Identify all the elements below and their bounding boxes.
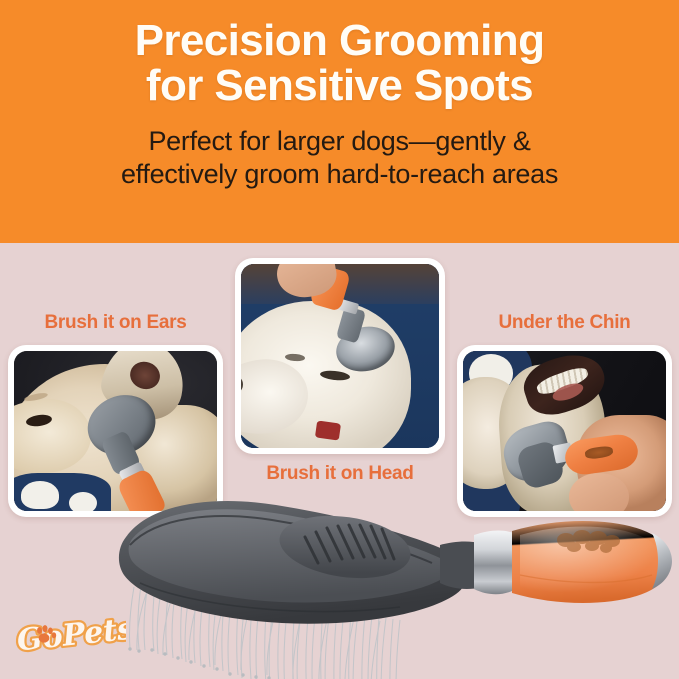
brush-body-highlight [129, 509, 449, 602]
brush-ferrule [474, 531, 518, 595]
caption-head: Brush it on Head [235, 463, 445, 485]
brand-logo: GoPets GoPets [14, 607, 126, 659]
grip-ridges [305, 525, 394, 563]
brush-body [119, 501, 467, 624]
handle-seam [520, 575, 652, 583]
logo-text-fill: GoPets [15, 611, 126, 658]
blanket-shape [14, 473, 111, 511]
gopets-logo: GoPets GoPets [14, 607, 126, 659]
headline-line-1: Precision Grooming [135, 16, 545, 65]
brush-pins [130, 584, 401, 679]
subheadline: Perfect for larger dogs—gently & effecti… [15, 125, 665, 191]
brush-pin-tips [128, 647, 270, 679]
headline-line-2: for Sensitive Spots [20, 63, 660, 108]
subheadline-line-2: effectively groom hard-to-reach areas [15, 158, 665, 191]
dog-collar-shape [315, 421, 341, 441]
caption-ears: Brush it on Ears [8, 312, 223, 334]
brush-grip-pad [275, 508, 414, 586]
subheadline-line-1: Perfect for larger dogs—gently & [148, 126, 530, 156]
product-marketing-image: Precision Grooming for Sensitive Spots P… [0, 0, 679, 679]
photo-panel-head [235, 258, 445, 454]
photo-head-image [241, 264, 439, 448]
handle-logo-emboss [557, 530, 620, 553]
headline: Precision Grooming for Sensitive Spots [20, 18, 660, 109]
photo-ears-image [14, 351, 217, 511]
brush-seam [130, 516, 432, 563]
header-banner: Precision Grooming for Sensitive Spots P… [0, 0, 679, 243]
brush-handle [512, 521, 668, 603]
brush-seam-lower [140, 583, 400, 611]
photo-panel-chin [457, 345, 672, 517]
gopets-wordmark: GoPets GoPets [15, 611, 126, 658]
handle-sheen [520, 526, 659, 596]
caption-chin: Under the Chin [457, 312, 672, 334]
handle-end-cap [652, 533, 672, 589]
brush-neck [440, 542, 494, 589]
photo-chin-image [463, 351, 666, 511]
photo-panel-ears [8, 345, 223, 517]
